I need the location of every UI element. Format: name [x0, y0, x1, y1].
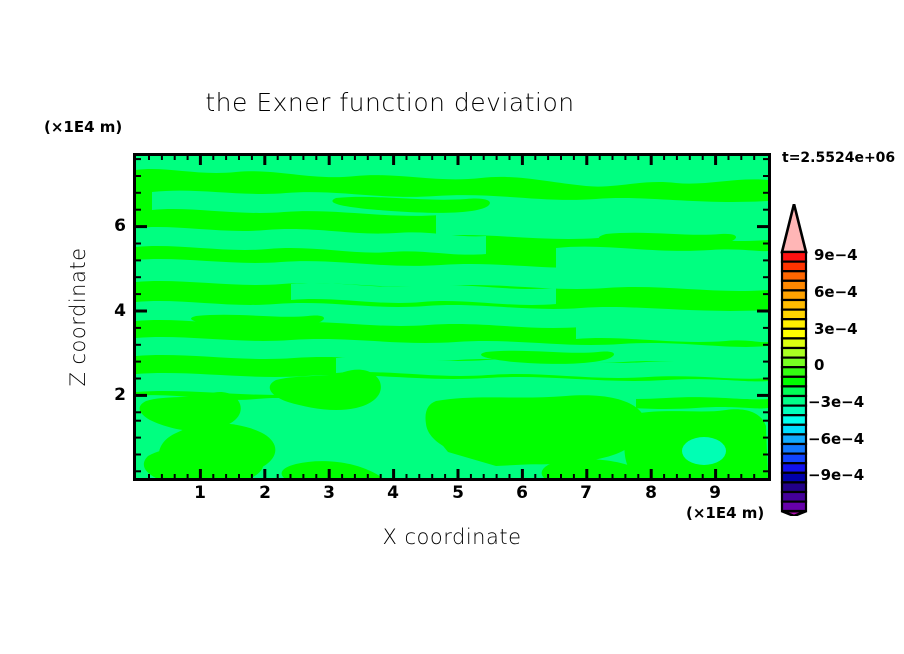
colorbar-tick-label: −3e−4: [808, 393, 864, 411]
colorbar-tick-label: −9e−4: [808, 466, 864, 484]
y-axis-unit-label: (×1E4 m): [44, 118, 122, 136]
y-tick-label: 6: [100, 216, 126, 236]
colorbar[interactable]: [779, 204, 809, 516]
x-tick-label: 7: [571, 483, 601, 503]
colorbar-over-cap: [782, 204, 806, 252]
x-tick-label: 3: [314, 483, 344, 503]
x-tick-label: 9: [700, 483, 730, 503]
colorbar-bands: [782, 252, 806, 511]
x-tick-label: 1: [185, 483, 215, 503]
contour-field: [136, 156, 768, 478]
colorbar-tick-label: 9e−4: [814, 246, 858, 264]
colorbar-tick-label: 0: [814, 356, 824, 374]
x-tick-label: 2: [250, 483, 280, 503]
y-tick-label: 2: [100, 385, 126, 405]
x-tick-label: 6: [507, 483, 537, 503]
figure-canvas: the Exner function deviation (×1E4 m) (×…: [0, 0, 904, 654]
time-annotation: t=2.5524e+06: [782, 150, 895, 166]
x-axis-unit-label: (×1E4 m): [686, 504, 764, 522]
colorbar-tick-label: 3e−4: [814, 320, 858, 338]
page-title: the Exner function deviation: [0, 88, 780, 117]
contour-plot-area: [136, 156, 768, 478]
colorbar-tick-label: 6e−4: [814, 283, 858, 301]
colorbar-tick-label: −6e−4: [808, 430, 864, 448]
x-tick-label: 5: [443, 483, 473, 503]
y-axis-title: Z coordinate: [66, 217, 90, 417]
colorbar-under-cap: [782, 511, 806, 516]
contour-band-negative-2: [682, 437, 726, 465]
x-axis-title: X coordinate: [136, 525, 768, 549]
x-tick-label: 4: [378, 483, 408, 503]
y-tick-label: 4: [100, 301, 126, 321]
x-tick-label: 8: [636, 483, 666, 503]
